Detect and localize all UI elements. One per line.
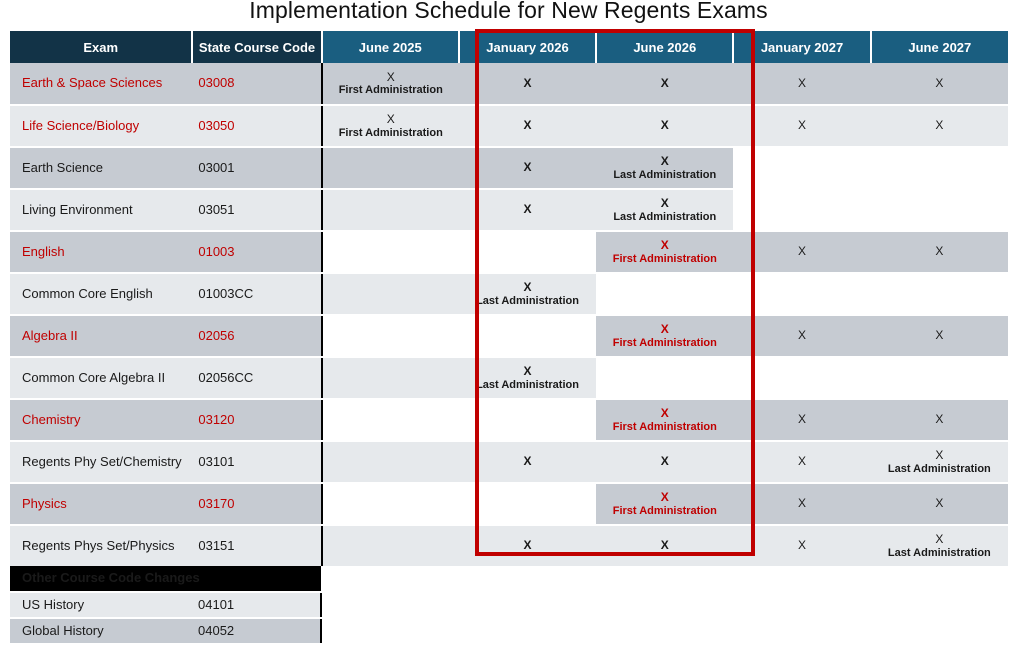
x-mark: X	[733, 539, 870, 552]
column-header-january-2026: January 2026	[459, 31, 596, 63]
administration-note: First Administration	[596, 505, 733, 517]
other-course-code-table: Other Course Code Changes US History0410…	[10, 566, 1008, 645]
x-mark: X	[733, 329, 870, 342]
schedule-cell: XFirst Administration	[596, 315, 733, 357]
state-course-code-cell: 03101	[192, 441, 321, 483]
schedule-cell: X	[459, 63, 596, 105]
schedule-cell	[459, 231, 596, 273]
state-course-code-cell: 03001	[192, 147, 321, 189]
other-exam-name-cell: Global History	[10, 618, 192, 644]
column-header-june-2026: June 2026	[596, 31, 733, 63]
schedule-cell: X	[733, 399, 870, 441]
exam-name-cell: Regents Phy Set/Chemistry	[10, 441, 192, 483]
x-mark: X	[733, 119, 870, 132]
administration-note: First Administration	[596, 337, 733, 349]
state-course-code-cell: 02056	[192, 315, 321, 357]
schedule-cell: X	[596, 525, 733, 567]
other-course-code-changes-section: Other Course Code Changes US History0410…	[10, 566, 1008, 645]
administration-note: Last Administration	[871, 463, 1008, 475]
schedule-cell: X	[596, 441, 733, 483]
table-row: English01003XFirst AdministrationXX	[10, 231, 1008, 273]
other-section-heading-row: Other Course Code Changes	[10, 566, 1008, 592]
exam-name-cell: Physics	[10, 483, 192, 525]
schedule-cell	[322, 357, 459, 399]
table-row: Common Core Algebra II02056CCXLast Admin…	[10, 357, 1008, 399]
x-mark: X	[733, 77, 870, 90]
column-header-june-2025: June 2025	[322, 31, 459, 63]
x-mark: X	[323, 71, 459, 84]
schedule-cell: X	[596, 105, 733, 147]
x-mark: X	[733, 245, 870, 258]
schedule-cell: X	[596, 63, 733, 105]
schedule-cell: X	[459, 525, 596, 567]
schedule-cell: X	[733, 63, 870, 105]
table-row: Life Science/Biology03050XFirst Administ…	[10, 105, 1008, 147]
page-title: Implementation Schedule for New Regents …	[0, 0, 1017, 24]
x-mark: X	[871, 119, 1008, 132]
schedule-cell: X	[459, 147, 596, 189]
schedule-cell: X	[871, 63, 1008, 105]
schedule-cell: XLast Administration	[459, 273, 596, 315]
schedule-cell	[733, 357, 870, 399]
administration-note: Last Administration	[459, 295, 596, 307]
x-mark: X	[459, 455, 596, 468]
x-mark: X	[596, 491, 733, 504]
schedule-cell	[322, 525, 459, 567]
exam-name-cell: Earth & Space Sciences	[10, 63, 192, 105]
column-header-june-2027: June 2027	[871, 31, 1008, 63]
schedule-cell	[733, 189, 870, 231]
table-row: Physics03170XFirst AdministrationXX	[10, 483, 1008, 525]
other-blank-cell	[321, 592, 1008, 618]
schedule-cell: X	[733, 441, 870, 483]
schedule-cell: XLast Administration	[596, 189, 733, 231]
schedule-cell: XLast Administration	[871, 441, 1008, 483]
x-mark: X	[596, 539, 733, 552]
schedule-cell: XLast Administration	[871, 525, 1008, 567]
schedule-cell: X	[733, 483, 870, 525]
table-row: Common Core English01003CCXLast Administ…	[10, 273, 1008, 315]
table-body: Earth & Space Sciences03008XFirst Admini…	[10, 63, 1008, 567]
x-mark: X	[871, 449, 1008, 462]
schedule-cell	[871, 189, 1008, 231]
schedule-cell	[871, 147, 1008, 189]
x-mark: X	[871, 77, 1008, 90]
state-course-code-cell: 03120	[192, 399, 321, 441]
schedule-cell: X	[459, 441, 596, 483]
other-rows: US History04101Global History04052	[10, 592, 1008, 644]
administration-note: First Administration	[596, 253, 733, 265]
header-row: ExamState Course CodeJune 2025January 20…	[10, 31, 1008, 63]
administration-note: Last Administration	[459, 379, 596, 391]
other-table-row: Global History04052	[10, 618, 1008, 644]
schedule-cell: XFirst Administration	[596, 483, 733, 525]
administration-note: First Administration	[596, 421, 733, 433]
schedule-cell	[596, 273, 733, 315]
exam-name-cell: Common Core English	[10, 273, 192, 315]
schedule-cell: X	[871, 105, 1008, 147]
x-mark: X	[596, 239, 733, 252]
schedule-cell	[322, 231, 459, 273]
exam-name-cell: Earth Science	[10, 147, 192, 189]
exam-name-cell: Chemistry	[10, 399, 192, 441]
x-mark: X	[733, 455, 870, 468]
x-mark: X	[323, 113, 459, 126]
column-header-january-2027: January 2027	[733, 31, 870, 63]
schedule-table-container: ExamState Course CodeJune 2025January 20…	[10, 31, 1008, 568]
x-mark: X	[596, 323, 733, 336]
x-mark: X	[871, 329, 1008, 342]
exam-name-cell: Common Core Algebra II	[10, 357, 192, 399]
schedule-cell: X	[459, 189, 596, 231]
exam-name-cell: English	[10, 231, 192, 273]
schedule-cell: XFirst Administration	[322, 105, 459, 147]
administration-note: First Administration	[323, 84, 459, 96]
schedule-cell	[459, 483, 596, 525]
state-course-code-cell: 03050	[192, 105, 321, 147]
other-section-heading-filler	[321, 566, 1008, 592]
other-state-course-code-cell: 04052	[192, 618, 321, 644]
table-header: ExamState Course CodeJune 2025January 20…	[10, 31, 1008, 63]
x-mark: X	[459, 281, 596, 294]
schedule-cell	[322, 441, 459, 483]
schedule-cell: X	[733, 315, 870, 357]
table-row: Regents Phy Set/Chemistry03101XXXXLast A…	[10, 441, 1008, 483]
column-header-state-course-code: State Course Code	[192, 31, 321, 63]
x-mark: X	[459, 365, 596, 378]
state-course-code-cell: 01003CC	[192, 273, 321, 315]
state-course-code-cell: 02056CC	[192, 357, 321, 399]
state-course-code-cell: 03008	[192, 63, 321, 105]
exam-name-cell: Life Science/Biology	[10, 105, 192, 147]
administration-note: Last Administration	[596, 211, 733, 223]
schedule-cell: X	[871, 231, 1008, 273]
other-blank-cell	[321, 618, 1008, 644]
x-mark: X	[871, 413, 1008, 426]
table-row: Regents Phys Set/Physics03151XXXXLast Ad…	[10, 525, 1008, 567]
schedule-cell: XFirst Administration	[322, 63, 459, 105]
x-mark: X	[459, 119, 596, 132]
schedule-cell: X	[459, 105, 596, 147]
administration-note: First Administration	[323, 127, 459, 139]
schedule-cell	[322, 315, 459, 357]
schedule-cell	[322, 273, 459, 315]
other-section-heading: Other Course Code Changes	[10, 566, 321, 592]
schedule-cell: X	[733, 525, 870, 567]
schedule-cell	[322, 399, 459, 441]
x-mark: X	[596, 407, 733, 420]
administration-note: Last Administration	[596, 169, 733, 181]
state-course-code-cell: 03051	[192, 189, 321, 231]
schedule-cell: XFirst Administration	[596, 399, 733, 441]
exam-name-cell: Living Environment	[10, 189, 192, 231]
other-table-row: US History04101	[10, 592, 1008, 618]
table-row: Earth & Space Sciences03008XFirst Admini…	[10, 63, 1008, 105]
x-mark: X	[596, 455, 733, 468]
schedule-cell: X	[871, 315, 1008, 357]
schedule-cell	[596, 357, 733, 399]
table-row: Chemistry03120XFirst AdministrationXX	[10, 399, 1008, 441]
x-mark: X	[596, 155, 733, 168]
schedule-cell	[733, 147, 870, 189]
x-mark: X	[733, 497, 870, 510]
schedule-cell	[459, 399, 596, 441]
x-mark: X	[871, 533, 1008, 546]
x-mark: X	[733, 413, 870, 426]
schedule-cell	[871, 357, 1008, 399]
x-mark: X	[459, 539, 596, 552]
schedule-cell: X	[733, 105, 870, 147]
schedule-cell: XFirst Administration	[596, 231, 733, 273]
schedule-cell: X	[733, 231, 870, 273]
schedule-cell	[459, 315, 596, 357]
x-mark: X	[596, 197, 733, 210]
schedule-cell	[322, 189, 459, 231]
schedule-cell: XLast Administration	[596, 147, 733, 189]
implementation-schedule-table: ExamState Course CodeJune 2025January 20…	[10, 31, 1008, 568]
schedule-cell: XLast Administration	[459, 357, 596, 399]
column-header-exam: Exam	[10, 31, 192, 63]
schedule-cell	[322, 147, 459, 189]
x-mark: X	[596, 77, 733, 90]
schedule-cell: X	[871, 483, 1008, 525]
x-mark: X	[459, 77, 596, 90]
schedule-cell	[733, 273, 870, 315]
table-row: Living Environment03051XXLast Administra…	[10, 189, 1008, 231]
x-mark: X	[459, 161, 596, 174]
other-exam-name-cell: US History	[10, 592, 192, 618]
other-state-course-code-cell: 04101	[192, 592, 321, 618]
table-row: Algebra II02056XFirst AdministrationXX	[10, 315, 1008, 357]
x-mark: X	[871, 245, 1008, 258]
exam-name-cell: Regents Phys Set/Physics	[10, 525, 192, 567]
administration-note: Last Administration	[871, 547, 1008, 559]
table-row: Earth Science03001XXLast Administration	[10, 147, 1008, 189]
state-course-code-cell: 01003	[192, 231, 321, 273]
x-mark: X	[596, 119, 733, 132]
x-mark: X	[459, 203, 596, 216]
state-course-code-cell: 03170	[192, 483, 321, 525]
exam-name-cell: Algebra II	[10, 315, 192, 357]
x-mark: X	[871, 497, 1008, 510]
state-course-code-cell: 03151	[192, 525, 321, 567]
schedule-cell	[871, 273, 1008, 315]
schedule-cell	[322, 483, 459, 525]
schedule-cell: X	[871, 399, 1008, 441]
